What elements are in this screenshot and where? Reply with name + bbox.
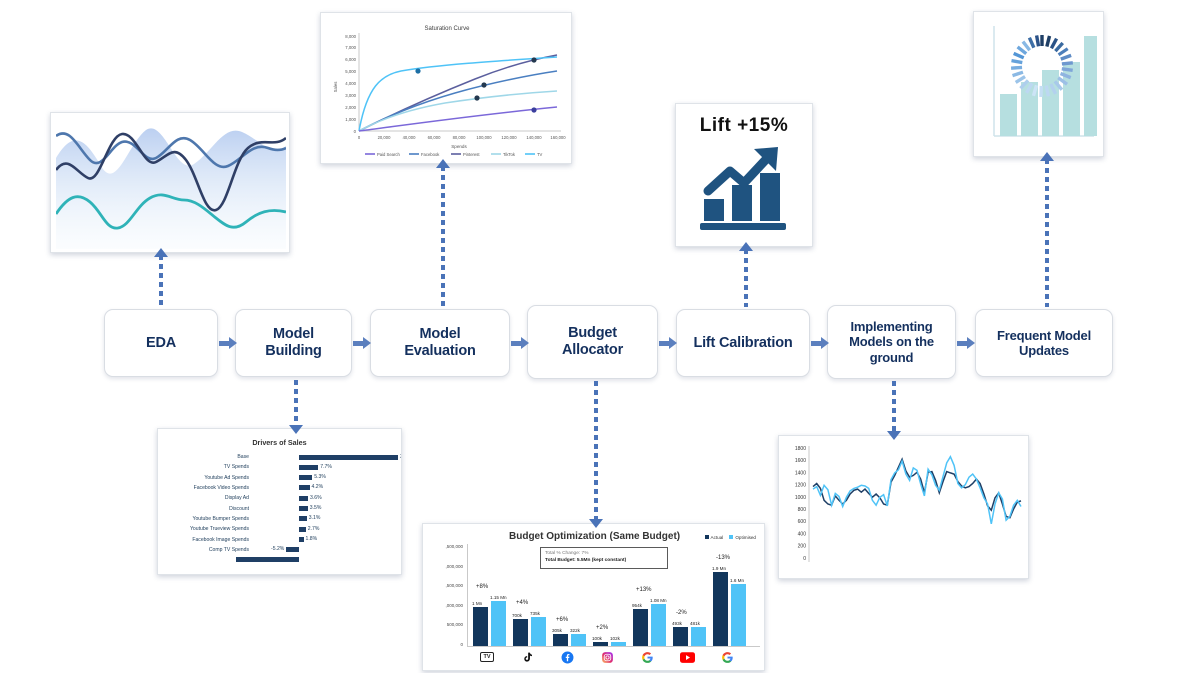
saturation-ylabel: Sales <box>333 82 338 93</box>
budget-chart-title: Budget Optimization (Same Budget) <box>509 531 680 542</box>
flow-arrow-6 <box>957 337 975 349</box>
lift-growth-icon <box>692 137 796 233</box>
flow-arrow-2 <box>353 337 371 349</box>
budget-bar-optimised <box>731 584 746 646</box>
driver-value: 1.8% <box>306 536 318 542</box>
svg-text:140,000: 140,000 <box>526 135 542 140</box>
google-icon <box>628 647 666 667</box>
saturation-xlabel: Spends <box>451 144 467 149</box>
budget-y-tick: ,500,000 <box>445 583 463 588</box>
driver-track: 5.3% <box>253 473 398 483</box>
driver-label: Base <box>161 454 253 460</box>
svg-text:4,000: 4,000 <box>345 81 356 86</box>
budget-bar-actual <box>633 609 648 646</box>
driver-track: -25.4% <box>253 555 398 565</box>
budget-bar-actual <box>673 627 688 646</box>
connector-eda-to-wave <box>158 255 164 307</box>
google-icon <box>708 647 746 667</box>
svg-text:80,000: 80,000 <box>453 135 466 140</box>
driver-value: 2.7% <box>308 526 320 532</box>
budget-bar-actual <box>713 572 728 646</box>
driver-track: 1.8% <box>253 534 398 544</box>
driver-value: 5.3% <box>314 474 326 480</box>
budget-bar-label-actual: 700k <box>512 613 522 618</box>
budget-bar-label-actual: 1.9 Mn <box>712 566 726 571</box>
budget-change-label: +2% <box>596 625 608 631</box>
budget-bar-optimised <box>491 601 506 646</box>
timeseries-y-tick: 1000 <box>795 495 806 501</box>
budget-bar-label-optimised: 481k <box>690 621 700 626</box>
driver-label: Youtube Ad Spends <box>161 475 253 481</box>
driver-row: Facebook Image Spends1.8% <box>161 534 398 544</box>
budget-change-label: +8% <box>476 584 488 590</box>
diagram-canvas: Saturation Curve 01,0002,000 3,0004,0005… <box>0 0 1198 673</box>
budget-bar-label-actual: 1 Mn <box>472 601 482 606</box>
driver-track: -5.2% <box>253 545 398 555</box>
timeseries-y-tick: 400 <box>798 531 807 537</box>
flow-step-label: BudgetAllocator <box>562 325 623 359</box>
marker-tv <box>415 68 420 73</box>
legend-pinterest: Pinterest <box>463 152 480 157</box>
flow-step-eda[interactable]: EDA <box>104 309 218 377</box>
svg-text:60,000: 60,000 <box>428 135 441 140</box>
driver-value: 7.7% <box>320 464 332 470</box>
marker-paid-search <box>531 107 536 112</box>
budget-group: 1.9 Mn1.6 Mn-13% <box>712 544 750 646</box>
flow-step-budget-allocator[interactable]: BudgetAllocator <box>527 305 658 379</box>
svg-text:2,000: 2,000 <box>345 105 356 110</box>
budget-group: 100k102k+2% <box>592 544 630 646</box>
flow-arrow-1 <box>219 337 237 349</box>
driver-label: Facebook Video Spends <box>161 485 253 491</box>
budget-optimization-card: Budget Optimization (Same Budget) Actual… <box>422 523 765 671</box>
driver-row: Youtube Bumper Spends3.1% <box>161 514 398 524</box>
driver-track: 3.6% <box>253 493 398 503</box>
budget-bar-optimised <box>571 634 586 646</box>
flow-step-label: EDA <box>146 335 176 352</box>
svg-text:5,000: 5,000 <box>345 69 356 74</box>
legend-tv: TV <box>537 152 543 157</box>
flow-step-label: ModelEvaluation <box>404 326 475 360</box>
timeseries-svg: 180016001400120010008006004002000 <box>783 440 1026 576</box>
budget-y-tick: ,000,000 <box>445 564 463 569</box>
flow-step-implementing-models[interactable]: ImplementingModels on theground <box>827 305 956 379</box>
timeseries-y-tick: 600 <box>798 519 807 525</box>
driver-bar <box>299 455 398 460</box>
driver-bar <box>286 547 299 552</box>
tv-icon: TV <box>468 647 506 667</box>
model-fit-timeseries-card: 180016001400120010008006004002000 <box>778 435 1029 579</box>
driver-bar <box>299 475 312 480</box>
budget-bar-label-actual: 305k <box>552 628 562 633</box>
driver-value: 3.6% <box>310 495 322 501</box>
budget-y-tick: ,500,000 <box>445 544 463 549</box>
budget-plot-area: 1 Mn1.15 Mn+8%700k735k+4%305k322k+6%100k… <box>467 544 760 647</box>
saturation-y-ticks: 01,0002,000 3,0004,0005,000 6,0007,0008,… <box>345 34 356 134</box>
driver-label: Comp TV Spends <box>161 547 253 553</box>
saturation-x-ticks: 020,00040,000 60,00080,000100,000 120,00… <box>358 135 566 140</box>
driver-label: Youtube Bumper Spends <box>161 516 253 522</box>
lift-calibration-card: Lift +15% <box>675 103 813 247</box>
svg-text:3,000: 3,000 <box>345 93 356 98</box>
summary-bar-3 <box>1042 70 1059 136</box>
driver-label: Display Ad <box>161 495 253 501</box>
budget-bar-label-optimised: 322k <box>570 628 580 633</box>
facebook-icon <box>548 647 586 667</box>
marker-tiktok <box>474 95 479 100</box>
driver-track: 3.5% <box>253 503 398 513</box>
driver-track: 7.7% <box>253 462 398 472</box>
svg-text:7,000: 7,000 <box>345 45 356 50</box>
budget-group: 700k735k+4% <box>512 544 550 646</box>
budget-bar-optimised <box>531 617 546 646</box>
timeseries-y-tick: 200 <box>798 544 807 550</box>
eda-trend-chart-card <box>50 112 290 253</box>
budget-legend: Actual Optimised <box>705 535 756 540</box>
driver-label: TV Spends <box>161 464 253 470</box>
driver-bar <box>299 496 308 501</box>
legend-paid-search: Paid Search <box>377 152 400 157</box>
driver-bar <box>299 527 306 532</box>
budget-platform-icons: TV <box>467 647 760 667</box>
eda-wave-svg <box>56 118 286 249</box>
youtube-icon <box>668 647 706 667</box>
driver-row: Facebook Video Spends4.2% <box>161 483 398 493</box>
budget-change-label: -13% <box>716 555 730 561</box>
driver-row: Price-25.4% <box>161 555 398 565</box>
budget-group: 305k322k+6% <box>552 544 590 646</box>
svg-text:100,000: 100,000 <box>476 135 492 140</box>
budget-group: 493k481k-2% <box>672 544 710 646</box>
driver-track: 2.7% <box>253 524 398 534</box>
marker-facebook <box>481 82 486 87</box>
driver-value: -25.4% <box>253 557 269 563</box>
driver-track: 39.6% <box>253 452 398 462</box>
driver-row: Comp TV Spends-5.2% <box>161 545 398 555</box>
driver-value: 3.1% <box>309 515 321 521</box>
driver-bar <box>299 465 318 470</box>
budget-bar-actual <box>593 642 608 646</box>
summary-bar-1 <box>1000 94 1017 136</box>
budget-bar-optimised <box>691 627 706 646</box>
drivers-of-sales-card: Drivers of Sales Base39.6%TV Spends7.7%Y… <box>157 428 402 575</box>
marker-pinterest <box>531 57 536 62</box>
legend-optimised: Optimised <box>729 535 756 540</box>
budget-bar-label-optimised: 1.6 Mn <box>730 578 744 583</box>
budget-bar-actual <box>553 634 568 646</box>
flow-arrow-3 <box>511 337 529 349</box>
summary-bar-4 <box>1063 62 1080 136</box>
budget-bar-label-actual: 100k <box>592 636 602 641</box>
svg-text:40,000: 40,000 <box>403 135 416 140</box>
saturation-curve-card: Saturation Curve 01,0002,000 3,0004,0005… <box>320 12 572 164</box>
saturation-chart-title: Saturation Curve <box>424 26 470 32</box>
budget-y-tick: ,000,000 <box>445 603 463 608</box>
driver-bar <box>299 537 304 542</box>
timeseries-y-tick: 1400 <box>795 470 806 476</box>
timeseries-y-tick: 1800 <box>795 446 806 452</box>
connector-model-evaluation-to-saturation <box>440 166 446 307</box>
timeseries-y-tick: 1200 <box>795 483 806 489</box>
flow-step-label: Frequent ModelUpdates <box>997 328 1091 358</box>
legend-tiktok: TikTok <box>503 152 516 157</box>
flow-arrow-5 <box>811 337 829 349</box>
driver-row: Youtube Trueview Spends2.7% <box>161 524 398 534</box>
driver-row: Base39.6% <box>161 452 398 462</box>
drivers-rows: Base39.6%TV Spends7.7%Youtube Ad Spends5… <box>161 452 398 565</box>
lift-value-label: Lift +15% <box>700 115 788 137</box>
driver-row: Youtube Ad Spends5.3% <box>161 473 398 483</box>
driver-track: 3.1% <box>253 514 398 524</box>
driver-row: TV Spends7.7% <box>161 462 398 472</box>
driver-row: Display Ad3.6% <box>161 493 398 503</box>
connector-implementing-to-timeseries <box>891 381 897 433</box>
budget-bar-actual <box>473 607 488 646</box>
connector-model-building-to-drivers <box>293 380 299 427</box>
driver-bar <box>299 485 310 490</box>
svg-text:1,000: 1,000 <box>345 117 356 122</box>
timeseries-y-tick: 1600 <box>795 458 806 464</box>
driver-value: 4.2% <box>312 484 324 490</box>
summary-bars-svg <box>980 18 1099 152</box>
budget-bar-label-optimised: 735k <box>530 611 540 616</box>
svg-text:120,000: 120,000 <box>501 135 517 140</box>
budget-bar-optimised <box>651 604 666 646</box>
driver-label: Facebook Image Spends <box>161 537 253 543</box>
budget-bar-label-actual: 954k <box>632 603 642 608</box>
budget-bar-label-optimised: 1.08 Mn <box>650 598 667 603</box>
summary-bars-card <box>973 11 1104 157</box>
driver-track: 4.2% <box>253 483 398 493</box>
svg-text:6,000: 6,000 <box>345 57 356 62</box>
flow-step-label: ModelBuilding <box>265 326 321 360</box>
flow-arrow-4 <box>659 337 677 349</box>
budget-change-label: +6% <box>556 617 568 623</box>
connector-updates-to-bars <box>1044 159 1050 307</box>
drivers-chart-title: Drivers of Sales <box>161 438 398 447</box>
connector-budget-allocator-to-budgetchart <box>593 381 599 521</box>
budget-bar-label-optimised: 1.15 Mn <box>490 595 507 600</box>
driver-row: Discount3.5% <box>161 503 398 513</box>
flow-step-lift-calibration[interactable]: Lift Calibration <box>676 309 810 377</box>
budget-change-label: -2% <box>676 610 687 616</box>
svg-text:20,000: 20,000 <box>378 135 391 140</box>
timeseries-y-tick: 0 <box>803 556 806 562</box>
budget-y-axis: ,500,000,000,000,500,000,000,000500,0000 <box>425 544 465 647</box>
connector-lift-calibration-to-lift <box>743 249 749 307</box>
flow-step-label: ImplementingModels on theground <box>849 319 934 364</box>
svg-text:160,000: 160,000 <box>550 135 566 140</box>
legend-actual: Actual <box>705 535 724 540</box>
summary-bar-5 <box>1084 36 1097 136</box>
budget-change-label: +13% <box>636 587 652 593</box>
budget-change-label: +4% <box>516 600 528 606</box>
legend-facebook: Facebook <box>421 152 440 157</box>
driver-value: 3.5% <box>310 505 322 511</box>
driver-value: 39.6% <box>400 454 402 460</box>
flow-step-frequent-model-updates[interactable]: Frequent ModelUpdates <box>975 309 1113 377</box>
budget-bar-label-actual: 493k <box>672 621 682 626</box>
timeseries-y-tick: 800 <box>798 507 807 513</box>
flow-step-model-building[interactable]: ModelBuilding <box>235 309 352 377</box>
tiktok-icon <box>508 647 546 667</box>
svg-text:8,000: 8,000 <box>345 34 356 39</box>
instagram-icon <box>588 647 626 667</box>
driver-label: Youtube Trueview Spends <box>161 526 253 532</box>
budget-y-tick: 0 <box>460 642 463 647</box>
saturation-curve-svg: Saturation Curve 01,0002,000 3,0004,0005… <box>325 17 569 161</box>
budget-bar-label-optimised: 102k <box>610 636 620 641</box>
flow-step-label: Lift Calibration <box>693 335 792 352</box>
driver-bar <box>299 516 307 521</box>
driver-value: -5.2% <box>271 546 284 552</box>
driver-bar <box>299 506 308 511</box>
budget-bar-actual <box>513 619 528 646</box>
budget-group: 1 Mn1.15 Mn+8% <box>472 544 510 646</box>
driver-label: Discount <box>161 506 253 512</box>
budget-y-tick: 500,000 <box>447 622 463 627</box>
budget-bar-optimised <box>611 642 626 646</box>
flow-step-model-evaluation[interactable]: ModelEvaluation <box>370 309 510 377</box>
budget-group: 954k1.08 Mn+13% <box>632 544 670 646</box>
